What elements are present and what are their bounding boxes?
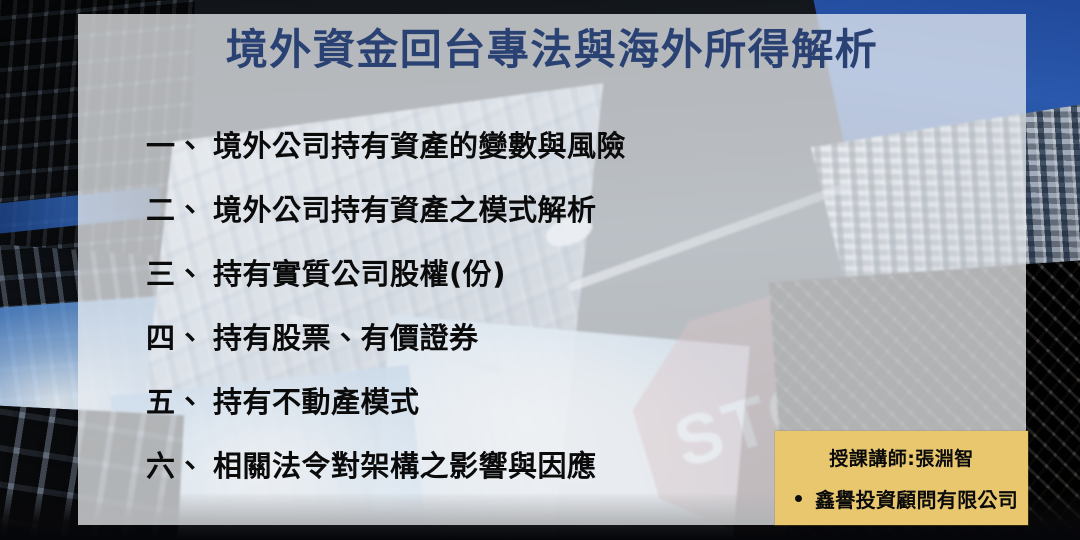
agenda-item-2: 二、 境外公司持有資產之模式解析 [146,176,906,240]
instructor-label: 授課講師:張淵智 [775,444,1028,471]
speaker-info-card: 授課講師:張淵智 鑫譽投資顧問有限公司 [775,431,1028,525]
organization-label: 鑫譽投資顧問有限公司 [815,484,1018,513]
agenda-item-2-label: 境外公司持有資產之模式解析 [213,187,597,229]
agenda-item-4-label: 持有股票、有價證券 [213,315,479,357]
agenda-item-5-label: 持有不動產模式 [213,379,420,421]
agenda-item-1: 一、 境外公司持有資產的變數與風險 [146,112,906,176]
agenda-item-5-number: 五、 [146,379,205,421]
agenda-item-1-label: 境外公司持有資產的變數與風險 [213,123,626,165]
agenda-item-1-number: 一、 [146,123,205,165]
bullet-icon [795,495,802,502]
agenda-item-3: 三、 持有實質公司股權(份) [146,240,906,304]
agenda-item-2-number: 二、 [146,187,205,229]
organization-row: 鑫譽投資顧問有限公司 [775,484,1028,513]
agenda-item-3-number: 三、 [146,251,205,293]
agenda-item-3-label: 持有實質公司股權(份) [213,251,506,293]
agenda-item-6-label: 相關法令對架構之影響與因應 [213,443,597,485]
agenda-item-4: 四、 持有股票、有價證券 [146,304,906,368]
agenda-item-4-number: 四、 [146,315,205,357]
slide-title: 境外資金回台專法與海外所得解析 [78,26,1026,73]
agenda-item-6-number: 六、 [146,443,205,485]
agenda-item-5: 五、 持有不動產模式 [146,368,906,432]
presentation-slide: STOP WAY 境外資金回台專法與海外所得解析 一、 境外公司持有資產的變數與… [0,0,1080,540]
